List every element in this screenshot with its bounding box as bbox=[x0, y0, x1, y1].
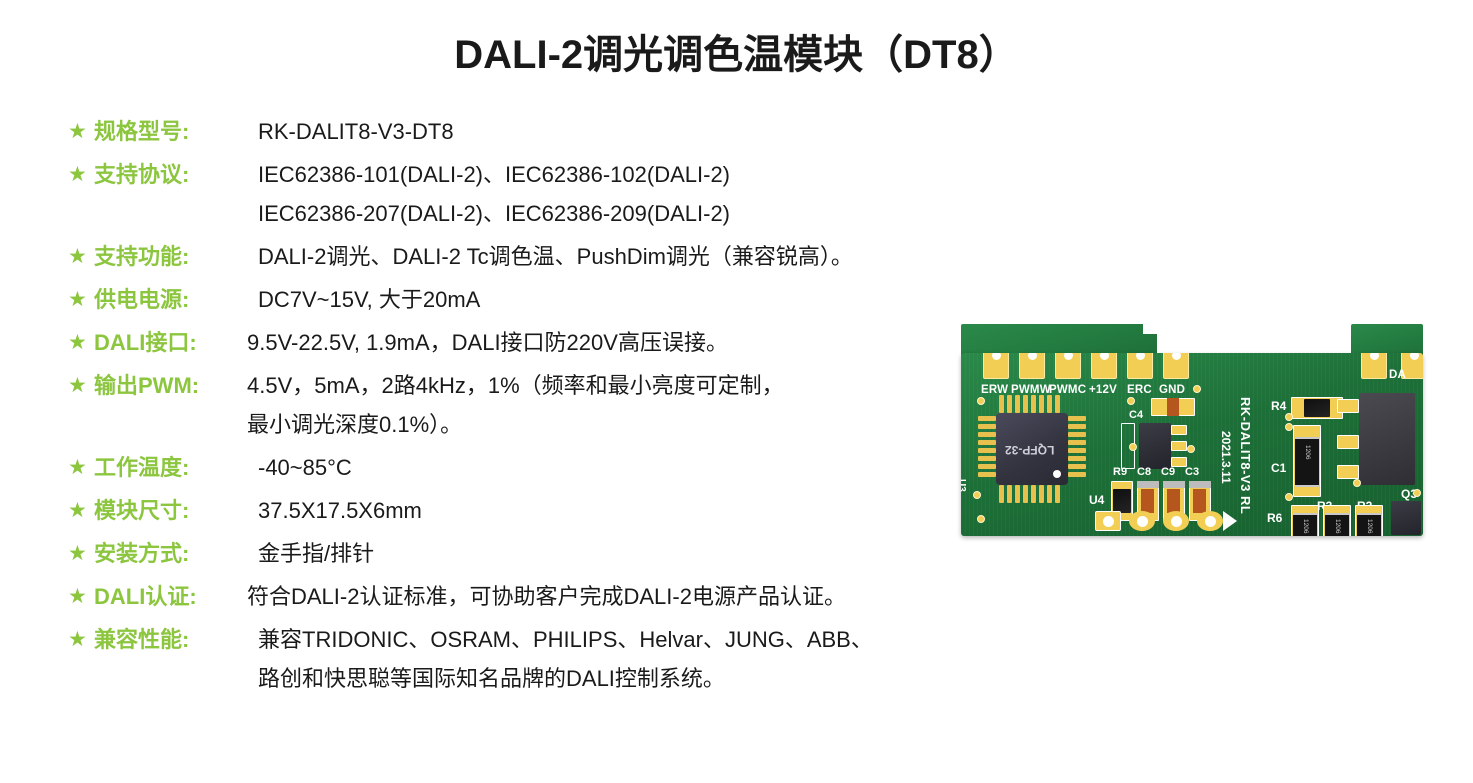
pad-label-erw: ERW bbox=[981, 384, 1008, 396]
star-icon: ★ bbox=[68, 535, 94, 573]
star-icon: ★ bbox=[68, 238, 94, 276]
star-icon: ★ bbox=[68, 113, 94, 151]
spec-value: 4.5V，5mA，2路4kHz，1%（频率和最小亮度可定制， 最小调光深度0.1… bbox=[247, 367, 1008, 444]
star-icon: ★ bbox=[68, 449, 94, 487]
page-title: DALI-2调光调色温模块（DT8） bbox=[0, 22, 1473, 80]
spec-label: 支持协议: bbox=[94, 156, 258, 194]
spec-label: 输出PWM: bbox=[94, 367, 247, 405]
transistor-q2 bbox=[1391, 501, 1421, 535]
spec-value-line: IEC62386-207(DALI-2)、IEC62386-209(DALI-2… bbox=[258, 195, 1008, 233]
spec-row-certification: ★ DALI认证: 符合DALI-2认证标准，可协助客户完成DALI-2电源产品… bbox=[68, 578, 1008, 616]
edge-pad-erw bbox=[983, 353, 1009, 379]
spec-value-line: 37.5X17.5X6mm bbox=[258, 492, 1008, 530]
sot-regulator bbox=[1139, 423, 1171, 469]
spec-row-function: ★ 支持功能: DALI-2调光、DALI-2 Tc调色温、PushDim调光（… bbox=[68, 238, 1008, 276]
edge-pad-pwmc bbox=[1055, 353, 1081, 379]
silk-u3: U3 bbox=[961, 479, 967, 492]
star-icon: ★ bbox=[68, 492, 94, 530]
edge-pad-pwmw bbox=[1019, 353, 1045, 379]
transistor-q3 bbox=[1359, 393, 1415, 485]
spec-value-line: 兼容TRIDONIC、OSRAM、PHILIPS、Helvar、JUNG、ABB… bbox=[258, 621, 1008, 659]
star-icon: ★ bbox=[68, 324, 94, 362]
spec-value: 符合DALI-2认证标准，可协助客户完成DALI-2电源产品认证。 bbox=[247, 578, 1008, 616]
spec-row-dali-interface: ★ DALI接口: 9.5V-22.5V, 1.9mA，DALI接口防220V高… bbox=[68, 324, 1008, 362]
spec-label: 工作温度: bbox=[94, 449, 258, 487]
spec-value-line: 最小调光深度0.1%）。 bbox=[247, 406, 1008, 444]
edge-pad-gnd bbox=[1163, 353, 1189, 379]
spec-value-line: -40~85°C bbox=[258, 449, 1008, 487]
star-icon: ★ bbox=[68, 621, 94, 659]
mcu-chip: LQFP-32 bbox=[996, 413, 1068, 485]
spec-value: RK-DALIT8-V3-DT8 bbox=[258, 113, 1008, 151]
spec-list: ★ 规格型号: RK-DALIT8-V3-DT8 ★ 支持协议: IEC6238… bbox=[68, 113, 1008, 703]
silk-c4: C4 bbox=[1129, 409, 1143, 421]
polarity-triangle-icon bbox=[1223, 511, 1237, 531]
spec-row-power: ★ 供电电源: DC7V~15V, 大于20mA bbox=[68, 281, 1008, 319]
spec-row-temperature: ★ 工作温度: -40~85°C bbox=[68, 449, 1008, 487]
mcu-chip-label: LQFP-32 bbox=[1005, 443, 1054, 457]
spec-value-line: 符合DALI-2认证标准，可协助客户完成DALI-2电源产品认证。 bbox=[247, 578, 1008, 616]
spec-sheet-page: DALI-2调光调色温模块（DT8） ★ 规格型号: RK-DALIT8-V3-… bbox=[0, 0, 1473, 783]
star-icon: ★ bbox=[68, 156, 94, 194]
silk-c1: C1 bbox=[1271, 461, 1286, 475]
spec-row-pwm-output: ★ 输出PWM: 4.5V，5mA，2路4kHz，1%（频率和最小亮度可定制， … bbox=[68, 367, 1008, 444]
res-code-c1: 1206 bbox=[1304, 445, 1311, 459]
edge-pad-12v bbox=[1091, 353, 1117, 379]
res-code-r2: 1206 bbox=[1366, 519, 1373, 533]
spec-value: 9.5V-22.5V, 1.9mA，DALI接口防220V高压误接。 bbox=[247, 324, 1008, 362]
pcb-top-notch bbox=[1143, 300, 1343, 334]
silk-r4: R4 bbox=[1271, 399, 1286, 413]
pad-label-da: DA bbox=[1389, 369, 1406, 381]
pad-label-12v: +12V bbox=[1089, 384, 1117, 396]
spec-label: 模块尺寸: bbox=[94, 492, 258, 530]
spec-row-protocol: ★ 支持协议: IEC62386-101(DALI-2)、IEC62386-10… bbox=[68, 156, 1008, 233]
spec-value-line: DC7V~15V, 大于20mA bbox=[258, 281, 1008, 319]
res-code-r3: 1206 bbox=[1334, 519, 1341, 533]
silk-u4: U4 bbox=[1089, 493, 1104, 507]
silk-c9: C9 bbox=[1161, 466, 1175, 478]
spec-value: DALI-2调光、DALI-2 Tc调色温、PushDim调光（兼容锐高）。 bbox=[258, 238, 1008, 276]
silk-r6: R6 bbox=[1267, 511, 1282, 525]
spec-value-line: RK-DALIT8-V3-DT8 bbox=[258, 113, 1008, 151]
star-icon: ★ bbox=[68, 281, 94, 319]
spec-label: DALI认证: bbox=[94, 578, 247, 616]
chip-pin1-dot bbox=[1053, 470, 1061, 478]
spec-label: 规格型号: bbox=[94, 113, 258, 151]
spec-value-line: DALI-2调光、DALI-2 Tc调色温、PushDim调光（兼容锐高）。 bbox=[258, 238, 1008, 276]
spec-row-mounting: ★ 安装方式: 金手指/排针 bbox=[68, 535, 1008, 573]
res-code-r6: 1206 bbox=[1302, 519, 1309, 533]
pad-label-gnd: GND bbox=[1159, 384, 1185, 396]
star-icon: ★ bbox=[68, 367, 94, 405]
dali-pad-left bbox=[1361, 353, 1387, 379]
spec-value-line: 路创和快思聪等国际知名品牌的DALI控制系统。 bbox=[258, 660, 1008, 698]
spec-value: -40~85°C bbox=[258, 449, 1008, 487]
pad-label-erc: ERC bbox=[1127, 384, 1152, 396]
spec-value: DC7V~15V, 大于20mA bbox=[258, 281, 1008, 319]
spec-label: 安装方式: bbox=[94, 535, 258, 573]
pcb-board: ERW PWMW PWMC +12V ERC GND DA LQFP-32 bbox=[961, 353, 1423, 536]
silk-part-number: RK-DALIT8-V3 RL bbox=[1238, 397, 1253, 514]
spec-row-compatibility: ★ 兼容性能: 兼容TRIDONIC、OSRAM、PHILIPS、Helvar、… bbox=[68, 621, 1008, 698]
spec-value: 金手指/排针 bbox=[258, 535, 1008, 573]
spec-row-dimensions: ★ 模块尺寸: 37.5X17.5X6mm bbox=[68, 492, 1008, 530]
spec-value-line: IEC62386-101(DALI-2)、IEC62386-102(DALI-2… bbox=[258, 156, 1008, 194]
spec-value: IEC62386-101(DALI-2)、IEC62386-102(DALI-2… bbox=[258, 156, 1008, 233]
silk-c8: C8 bbox=[1137, 466, 1151, 478]
edge-pad-erc bbox=[1127, 353, 1153, 379]
silk-r9: R9 bbox=[1113, 466, 1127, 478]
spec-label: 兼容性能: bbox=[94, 621, 258, 659]
spec-value: 兼容TRIDONIC、OSRAM、PHILIPS、Helvar、JUNG、ABB… bbox=[258, 621, 1008, 698]
spec-label: 供电电源: bbox=[94, 281, 258, 319]
spec-value-line: 4.5V，5mA，2路4kHz，1%（频率和最小亮度可定制， bbox=[247, 367, 1008, 405]
silk-c3: C3 bbox=[1185, 466, 1199, 478]
silk-date: 2021.3.11 bbox=[1219, 431, 1233, 484]
spec-row-model: ★ 规格型号: RK-DALIT8-V3-DT8 bbox=[68, 113, 1008, 151]
spec-label: DALI接口: bbox=[94, 324, 247, 362]
spec-value-line: 9.5V-22.5V, 1.9mA，DALI接口防220V高压误接。 bbox=[247, 324, 1008, 362]
pcb-product-image: ERW PWMW PWMC +12V ERC GND DA LQFP-32 bbox=[953, 300, 1433, 545]
spec-label: 支持功能: bbox=[94, 238, 258, 276]
spec-value: 37.5X17.5X6mm bbox=[258, 492, 1008, 530]
spec-value-line: 金手指/排针 bbox=[258, 535, 1008, 573]
star-icon: ★ bbox=[68, 578, 94, 616]
